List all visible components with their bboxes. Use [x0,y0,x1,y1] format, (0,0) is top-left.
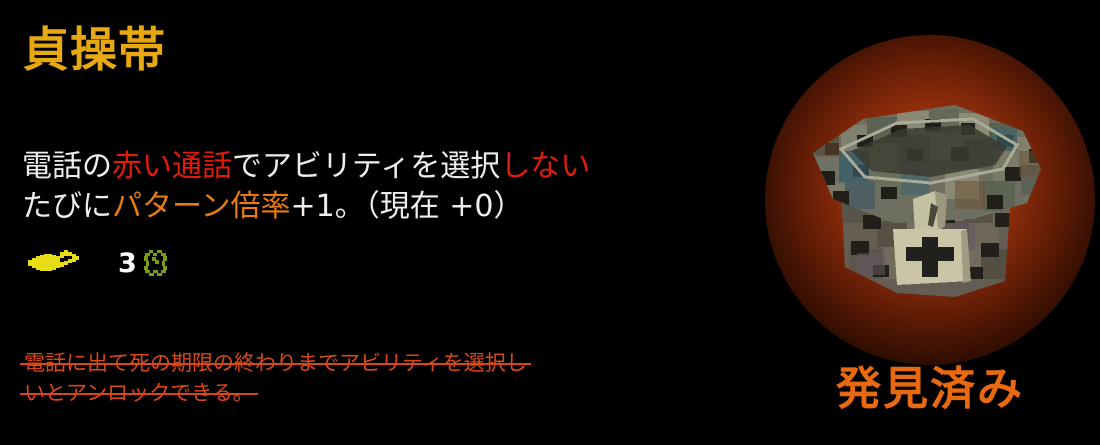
unlock-condition-row-2: いとアンロックできる。 [24,378,704,408]
green-gem-icon [143,249,169,277]
item-title: 貞操帯 [22,24,166,78]
desc-seg-5: たびに [22,189,112,224]
cost-amount: 3 [118,250,137,277]
unlock-condition: 電話に出て死の期限の終わりまでアビリティを選択し いとアンロックできる。 [24,348,704,408]
desc-seg-6: パターン倍率 [112,189,291,224]
gold-arrow-icon [24,248,86,278]
description-line-2: たびにパターン倍率+1。（現在 +0） [22,187,742,227]
chastity-belt-model [805,91,1055,301]
item-cost-row: 3 [24,246,169,280]
desc-seg-2: 赤い通話 [112,149,232,184]
desc-seg-3: でアビリティを選択 [232,149,500,184]
desc-seg-4: しない [500,149,590,184]
item-detail-screen: 貞操帯 電話の赤い通話でアビリティを選択しない たびにパターン倍率+1。（現在 … [0,0,1100,445]
item-description: 電話の赤い通話でアビリティを選択しない たびにパターン倍率+1。（現在 +0） [22,147,742,227]
unlock-condition-row-1: 電話に出て死の期限の終わりまでアビリティを選択し [24,348,704,378]
description-line-1: 電話の赤い通話でアビリティを選択しない [22,147,742,187]
desc-seg-7: +1。（現在 +0） [291,189,524,224]
unlock-condition-line-2: いとアンロックできる。 [24,378,254,408]
status-badge: 発見済み [760,352,1100,417]
item-info-panel: 貞操帯 電話の赤い通話でアビリティを選択しない たびにパターン倍率+1。（現在 … [0,0,760,445]
unlock-condition-line-1: 電話に出て死の期限の終わりまでアビリティを選択し [24,348,527,378]
desc-seg-1: 電話の [22,149,112,184]
item-artwork-panel: 発見済み [760,0,1100,445]
